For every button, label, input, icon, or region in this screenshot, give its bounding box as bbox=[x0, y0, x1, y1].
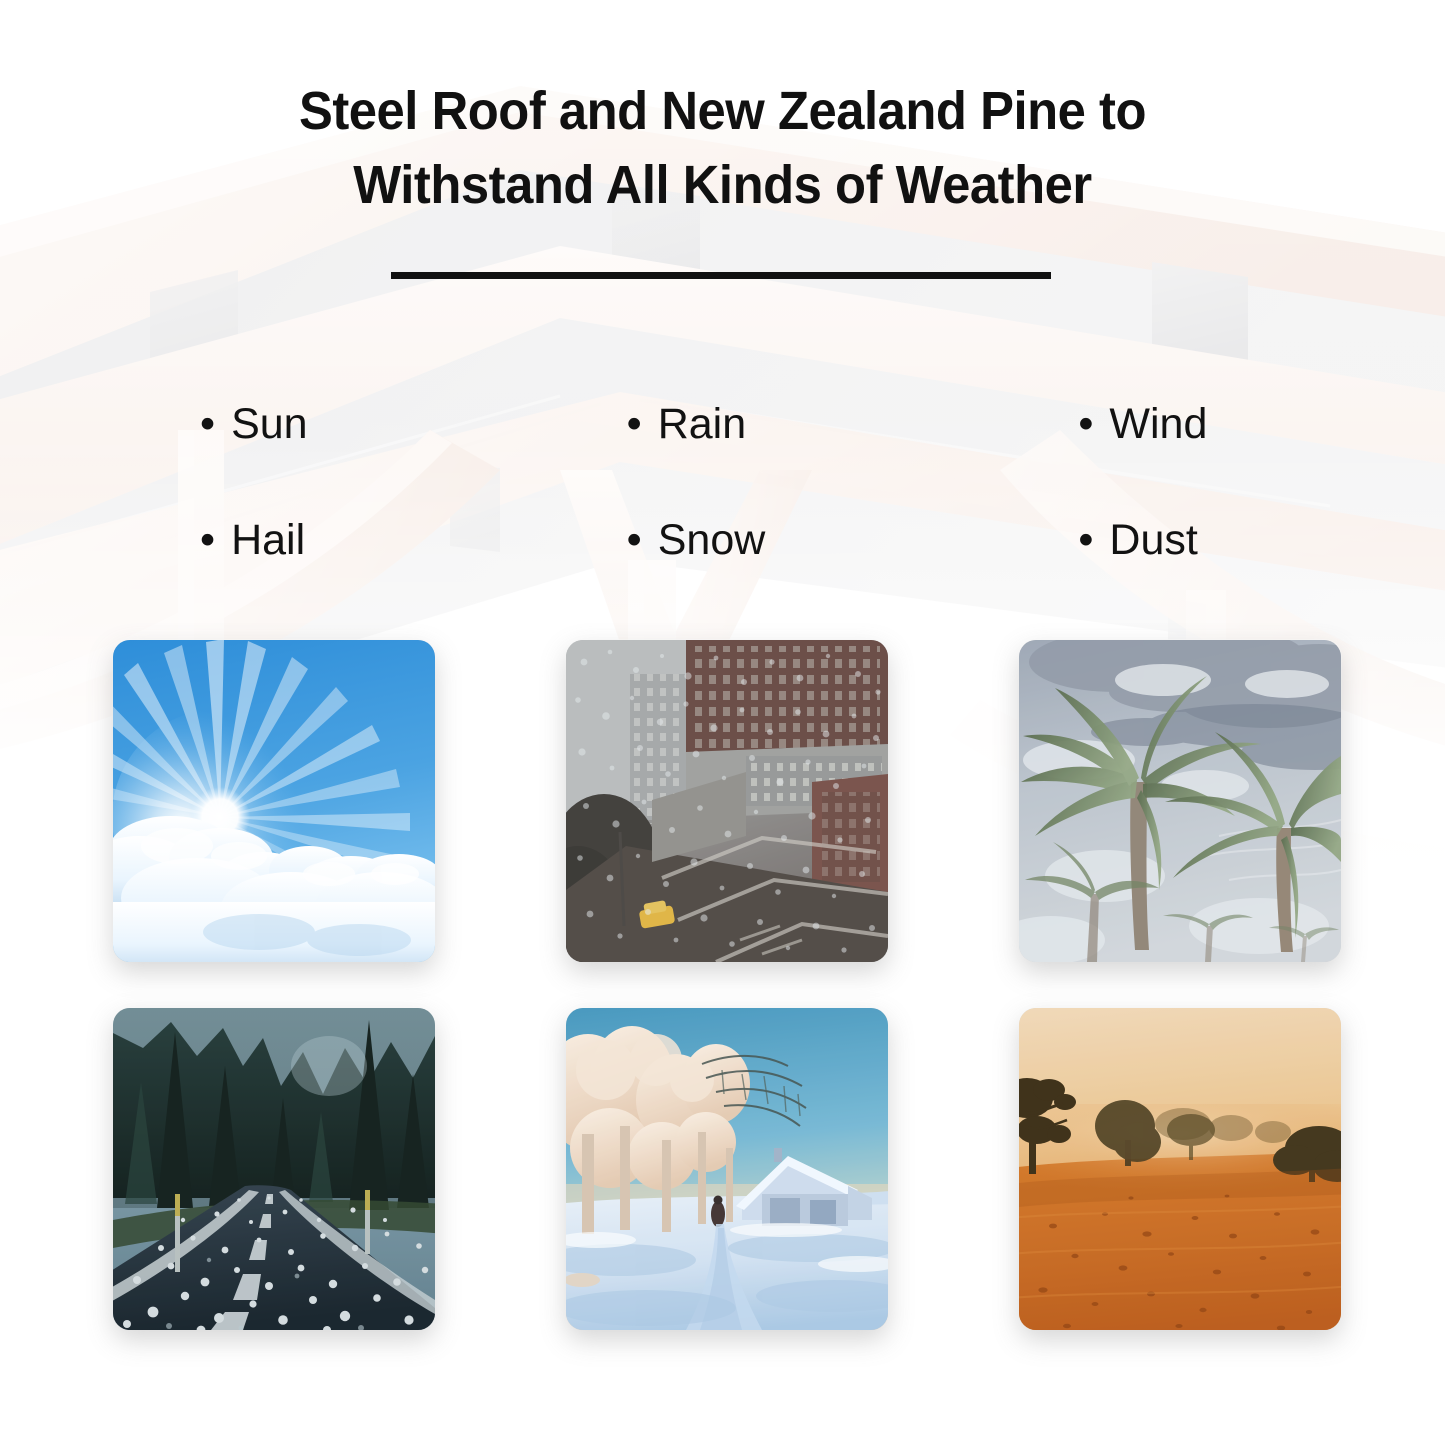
weather-bullet-list: • Sun • Rain • Wind • Hail • Snow • Dust bbox=[0, 366, 1445, 598]
weather-photo-grid bbox=[113, 640, 1341, 1330]
bullet-label-rain: Rain bbox=[658, 400, 746, 449]
title-divider-rule bbox=[391, 272, 1051, 279]
rain-photo-tile bbox=[566, 640, 888, 962]
bullet-label-snow: Snow bbox=[658, 516, 766, 565]
bullet-item-wind: • Wind bbox=[963, 366, 1445, 482]
bullet-label-sun: Sun bbox=[231, 400, 308, 449]
bullet-label-dust: Dust bbox=[1109, 516, 1197, 565]
dust-photo-tile bbox=[1019, 1008, 1341, 1330]
wind-photo-tile bbox=[1019, 640, 1341, 962]
bullet-marker-icon: • bbox=[627, 403, 642, 446]
bullet-marker-icon: • bbox=[200, 403, 215, 446]
bullet-item-dust: • Dust bbox=[963, 482, 1445, 598]
bullet-marker-icon: • bbox=[200, 519, 215, 562]
hail-photo-tile bbox=[113, 1008, 435, 1330]
snow-photo-tile bbox=[566, 1008, 888, 1330]
bullet-item-rain: • Rain bbox=[482, 366, 964, 482]
page-title-line-1: Steel Roof and New Zealand Pine to bbox=[43, 74, 1401, 148]
page-title-line-2: Withstand All Kinds of Weather bbox=[43, 148, 1401, 222]
bullet-item-sun: • Sun bbox=[0, 366, 482, 482]
page-header: Steel Roof and New Zealand Pine to Withs… bbox=[0, 74, 1445, 222]
bullet-item-hail: • Hail bbox=[0, 482, 482, 598]
bullet-marker-icon: • bbox=[1078, 519, 1093, 562]
bullet-marker-icon: • bbox=[627, 519, 642, 562]
bullet-label-wind: Wind bbox=[1109, 400, 1207, 449]
bullet-label-hail: Hail bbox=[231, 516, 305, 565]
bullet-marker-icon: • bbox=[1078, 403, 1093, 446]
bullet-item-snow: • Snow bbox=[482, 482, 964, 598]
sun-photo-tile bbox=[113, 640, 435, 962]
infographic-page: Steel Roof and New Zealand Pine to Withs… bbox=[0, 0, 1445, 1445]
